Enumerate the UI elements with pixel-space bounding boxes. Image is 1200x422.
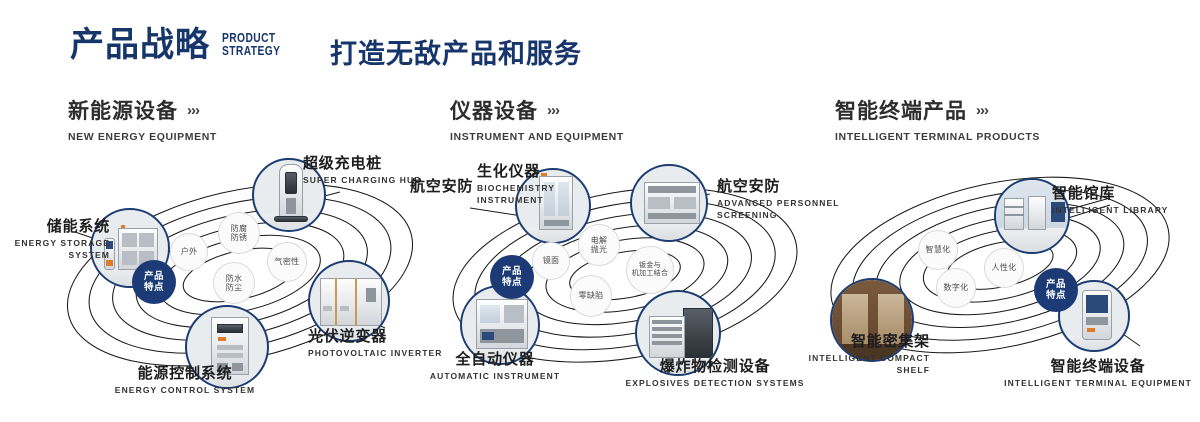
feature-bubble-line1: 数字化 — [944, 283, 969, 293]
label-cn: 能源控制系统 — [85, 362, 285, 383]
label-en-line1: SUPER CHARGING HUB — [303, 175, 422, 185]
feature-bubble-line1: 钣金与 — [639, 262, 661, 271]
section-title-intelligent-terminal: 智能终端产品 ››› INTELLIGENT TERMINAL PRODUCTS — [835, 95, 1040, 143]
feature-bubble-line2: 抛光 — [591, 245, 608, 255]
label-cn: 航空安防 — [410, 175, 473, 196]
section-title-new-energy: 新能源设备 ››› NEW ENERGY EQUIPMENT — [68, 95, 217, 143]
label-en-line1: ENERGY STORAGE — [0, 238, 110, 248]
label-energy-control-system: 能源控制系统 ENERGY CONTROL SYSTEM — [85, 362, 285, 395]
feature-bubble-airtightness: 气密性 — [267, 242, 307, 282]
photo-advanced-personnel-screening — [632, 166, 706, 240]
label-intelligent-compact-shelf: 智能密集架 INTELLIGENT COMPACT SHELF — [790, 330, 930, 375]
section-title-instrument: 仪器设备 ››› INSTRUMENT AND EQUIPMENT — [450, 95, 624, 143]
label-aviation-security-left: 航空安防 — [410, 175, 473, 196]
badge-product-features-new-energy: 产品 特点 — [132, 260, 176, 304]
feature-bubble-humanized: 人性化 — [984, 248, 1024, 288]
feature-bubble-line1: 防水 — [226, 274, 243, 284]
feature-bubble-electrolytic-polishing: 电解 抛光 — [578, 224, 620, 266]
badge-line1: 产品 — [1046, 279, 1066, 290]
label-cn: 储能系统 — [0, 215, 110, 236]
section-label: 仪器设备 — [450, 95, 538, 125]
section-title-new-energy-en: NEW ENERGY EQUIPMENT — [68, 131, 217, 143]
label-en-line1: AUTOMATIC INSTRUMENT — [400, 371, 590, 381]
feature-bubble-line1: 智慧化 — [926, 245, 951, 255]
label-intelligent-terminal-equipment: 智能终端设备 INTELLIGENT TERMINAL EQUIPMENT — [1000, 355, 1196, 388]
label-en-line1: ENERGY CONTROL SYSTEM — [85, 385, 285, 395]
label-en-line1: EXPLOSIVES DETECTION SYSTEMS — [600, 378, 830, 388]
page-header: 产品战略 PRODUCT STRATEGY — [70, 28, 293, 62]
label-en-line1: INTELLIGENT COMPACT — [790, 353, 930, 363]
page-title: 产品战略 — [70, 28, 210, 62]
label-en-line2: SYSTEM — [0, 250, 110, 260]
feature-bubble-sheet-metal-machining: 钣金与 机加工结合 — [626, 246, 674, 294]
label-cn: 光伏逆变器 — [308, 325, 443, 346]
badge-line1: 产品 — [502, 266, 522, 277]
label-en-line1: INTELLIGENT LIBRARY — [1052, 205, 1168, 215]
feature-bubble-line1: 电解 — [591, 236, 608, 246]
feature-bubble-digital: 数字化 — [936, 268, 976, 308]
section-title-new-energy-cn: 新能源设备 ››› — [68, 95, 217, 125]
section-title-instrument-cn: 仪器设备 ››› — [450, 95, 624, 125]
feature-bubble-line2: 机加工结合 — [632, 270, 669, 279]
chevron-right-icon: ››› — [976, 103, 988, 118]
badge-line2: 特点 — [502, 277, 522, 288]
label-automatic-instrument: 全自动仪器 AUTOMATIC INSTRUMENT — [400, 348, 590, 381]
label-energy-storage-system: 储能系统 ENERGY STORAGE SYSTEM — [0, 215, 110, 260]
label-intelligent-library: 智能馆库 INTELLIGENT LIBRARY — [1052, 182, 1168, 215]
feature-bubble-line1: 气密性 — [275, 257, 300, 267]
feature-bubble-line1: 镜面 — [543, 256, 560, 266]
label-cn: 智能馆库 — [1052, 182, 1168, 203]
label-cn: 全自动仪器 — [400, 348, 590, 369]
chevron-right-icon: ››› — [547, 103, 559, 118]
node-photo-advanced-personnel-screening[interactable] — [630, 164, 708, 242]
label-cn: 超级充电桩 — [303, 152, 422, 173]
label-en-line2: INSTRUMENT — [477, 195, 555, 205]
section-title-instrument-en: INSTRUMENT AND EQUIPMENT — [450, 131, 624, 143]
badge-line1: 产品 — [144, 271, 164, 282]
badge-line2: 特点 — [1046, 290, 1066, 301]
feature-bubble-line1: 户外 — [181, 247, 198, 257]
page-subtitle: 打造无敌产品和服务 — [330, 32, 582, 71]
feature-bubble-line2: 防尘 — [226, 283, 243, 293]
label-cn: 智能密集架 — [790, 330, 930, 351]
product-strategy-infographic: 产品战略 PRODUCT STRATEGY 打造无敌产品和服务 新能源设备 ››… — [0, 0, 1200, 422]
feature-bubble-waterproof-dustproof: 防水 防尘 — [213, 262, 255, 304]
section-label: 新能源设备 — [68, 95, 178, 125]
feature-bubble-line1: 人性化 — [992, 263, 1017, 273]
page-title-english: PRODUCT STRATEGY — [222, 32, 280, 58]
badge-product-features-intelligent-terminal: 产品 特点 — [1034, 268, 1078, 312]
label-en-line2: SHELF — [790, 365, 930, 375]
label-cn: 生化仪器 — [477, 160, 555, 181]
feature-bubble-intelligent: 智慧化 — [918, 230, 958, 270]
feature-bubble-mirror-finish: 镜面 — [532, 242, 570, 280]
section-title-intelligent-terminal-cn: 智能终端产品 ››› — [835, 95, 1040, 125]
label-en-line1: INTELLIGENT TERMINAL EQUIPMENT — [1000, 378, 1196, 388]
feature-bubble-line1: 零缺陷 — [579, 291, 604, 301]
feature-bubble-zero-defect: 零缺陷 — [570, 275, 612, 317]
section-label: 智能终端产品 — [835, 95, 967, 125]
badge-line2: 特点 — [144, 282, 164, 293]
label-biochemistry-instrument: 生化仪器 BIOCHEMISTRY INSTRUMENT — [477, 160, 555, 205]
feature-bubble-anti-corrosion: 防腐 防锈 — [218, 212, 260, 254]
label-cn: 智能终端设备 — [1000, 355, 1196, 376]
section-title-intelligent-terminal-en: INTELLIGENT TERMINAL PRODUCTS — [835, 131, 1040, 143]
feature-bubble-line2: 防锈 — [231, 233, 248, 243]
label-en-line1: BIOCHEMISTRY — [477, 183, 555, 193]
feature-bubble-line1: 防腐 — [231, 224, 248, 234]
badge-product-features-instrument: 产品 特点 — [490, 255, 534, 299]
label-super-charging-hub: 超级充电桩 SUPER CHARGING HUB — [303, 152, 422, 185]
chevron-right-icon: ››› — [187, 103, 199, 118]
feature-bubble-outdoor: 户外 — [170, 233, 208, 271]
page-title-english-line2: STRATEGY — [222, 45, 280, 58]
